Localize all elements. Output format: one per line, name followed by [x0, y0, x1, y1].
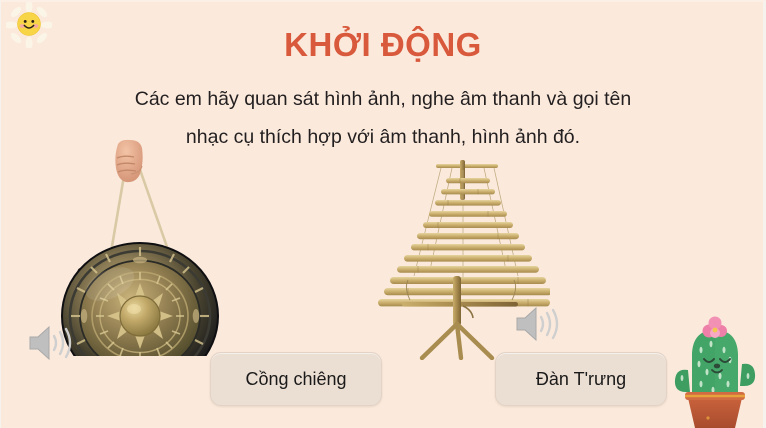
speaker-volume-icon-trung[interactable]: [513, 302, 559, 346]
cactus-in-pot-icon: [668, 306, 762, 428]
answer-button-label: Cồng chiêng: [245, 369, 346, 390]
instruction-line-1: Các em hãy quan sát hình ảnh, nghe âm th…: [70, 80, 696, 118]
answer-button-dan-trung[interactable]: Đàn T'rưng: [495, 352, 667, 406]
speaker-volume-icon-gong[interactable]: [26, 321, 72, 365]
slide-canvas: KHỞI ĐỘNG Các em hãy quan sát hình ảnh, …: [0, 0, 766, 428]
gong-photo[interactable]: [52, 138, 228, 356]
page-title: KHỞI ĐỘNG: [0, 26, 766, 64]
hand-holding-rope: [115, 140, 142, 182]
answer-button-cong-chieng[interactable]: Cồng chiêng: [210, 352, 382, 406]
answer-button-label: Đàn T'rưng: [536, 369, 626, 390]
